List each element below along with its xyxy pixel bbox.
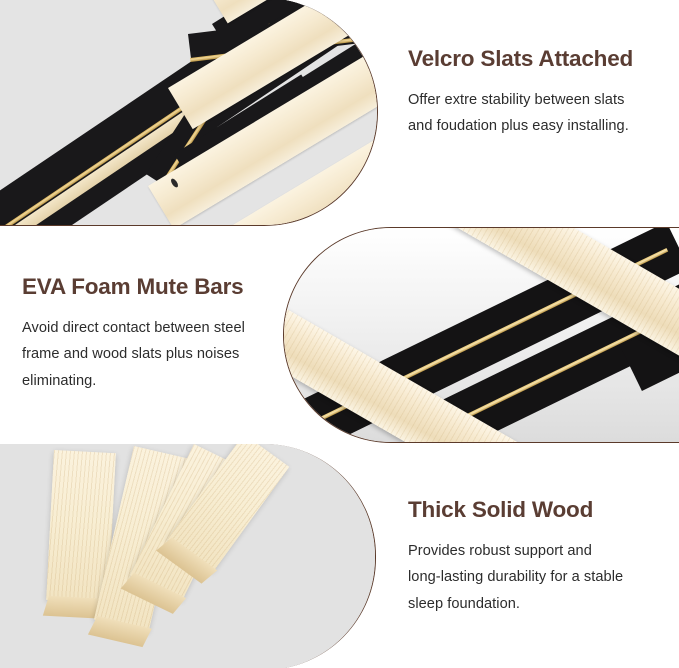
feature-title-thick-solid-wood: Thick Solid Wood	[408, 498, 670, 523]
feature-text-eva-foam-mute-bars: EVA Foam Mute Bars Avoid direct contact …	[22, 275, 290, 394]
photo-scene-thick-solid-wood	[0, 444, 375, 668]
feature-photo-velcro-slats	[0, 0, 378, 226]
feature-body-velcro-slats: Offer extre stability between slats and …	[408, 87, 670, 140]
feature-title-velcro-slats: Velcro Slats Attached	[408, 47, 670, 72]
feature-title-eva-foam-mute-bars: EVA Foam Mute Bars	[22, 275, 290, 300]
infographic-board: Velcro Slats Attached Offer extre stabil…	[0, 0, 679, 668]
feature-body-line: and foudation plus easy installing.	[408, 113, 670, 140]
feature-row-thick-solid-wood: Thick Solid Wood Provides robust support…	[0, 444, 679, 668]
feature-body-line: Avoid direct contact between steel	[22, 315, 290, 342]
feature-body-thick-solid-wood: Provides robust support and long-lasting…	[408, 538, 670, 618]
feature-row-eva-foam-mute-bars: EVA Foam Mute Bars Avoid direct contact …	[0, 227, 679, 443]
feature-body-line: sleep foundation.	[408, 591, 670, 618]
photo-scene-velcro-slats	[0, 0, 377, 225]
feature-body-line: Provides robust support and	[408, 538, 670, 565]
feature-text-thick-solid-wood: Thick Solid Wood Provides robust support…	[408, 498, 670, 617]
feature-body-line: long-lasting durability for a stable	[408, 564, 670, 591]
feature-row-velcro-slats: Velcro Slats Attached Offer extre stabil…	[0, 0, 679, 226]
photo-scene-eva-foam-mute-bars	[284, 228, 679, 442]
feature-body-eva-foam-mute-bars: Avoid direct contact between steel frame…	[22, 315, 290, 395]
feature-body-line: eliminating.	[22, 368, 290, 395]
feature-body-line: Offer extre stability between slats	[408, 87, 670, 114]
feature-photo-eva-foam-mute-bars	[283, 227, 679, 443]
feature-photo-thick-solid-wood	[0, 444, 376, 668]
feature-text-velcro-slats: Velcro Slats Attached Offer extre stabil…	[408, 47, 670, 140]
feature-body-line: frame and wood slats plus noises	[22, 341, 290, 368]
